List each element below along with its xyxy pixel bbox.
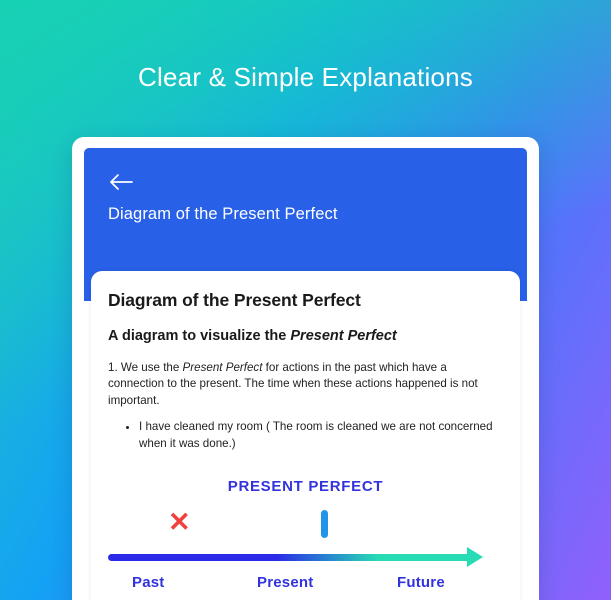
phone-mockup: Diagram of the Present Perfect Diagram o… bbox=[72, 137, 539, 600]
diagram-title: PRESENT PERFECT bbox=[108, 478, 503, 495]
article-subheading: A diagram to visualize the Present Perfe… bbox=[108, 328, 503, 344]
page-headline: Clear & Simple Explanations bbox=[0, 62, 611, 93]
timeline-labels: Past Present Future bbox=[108, 574, 503, 596]
list-item: I have cleaned my room ( The room is cle… bbox=[139, 419, 503, 452]
present-moment-bar-icon bbox=[321, 510, 328, 538]
timeline-line bbox=[108, 554, 473, 561]
timeline-label-future: Future bbox=[397, 574, 445, 591]
timeline-label-past: Past bbox=[132, 574, 165, 591]
arrow-right-icon bbox=[467, 547, 483, 567]
subheading-prefix: A diagram to visualize the bbox=[108, 328, 290, 344]
subheading-italic: Present Perfect bbox=[290, 328, 396, 344]
timeline-axis bbox=[108, 551, 503, 565]
paragraph-1-part-a: 1. We use the bbox=[108, 361, 183, 374]
timeline-markers: ✕ bbox=[108, 509, 503, 551]
cross-icon: ✕ bbox=[168, 509, 191, 536]
content-sheet: Diagram of the Present Perfect A diagram… bbox=[91, 271, 520, 600]
app-bar-title: Diagram of the Present Perfect bbox=[108, 205, 338, 224]
paragraph-1-italic: Present Perfect bbox=[183, 361, 263, 374]
timeline-diagram: PRESENT PERFECT ✕ Past Present Future bbox=[108, 478, 503, 598]
arrow-left-icon[interactable] bbox=[108, 171, 134, 193]
screen-background: Clear & Simple Explanations Diagram of t… bbox=[0, 0, 611, 600]
timeline-label-present: Present bbox=[257, 574, 313, 591]
example-list: I have cleaned my room ( The room is cle… bbox=[108, 419, 503, 452]
article-paragraph-1: 1. We use the Present Perfect for action… bbox=[108, 360, 503, 409]
article-heading: Diagram of the Present Perfect bbox=[108, 290, 503, 311]
